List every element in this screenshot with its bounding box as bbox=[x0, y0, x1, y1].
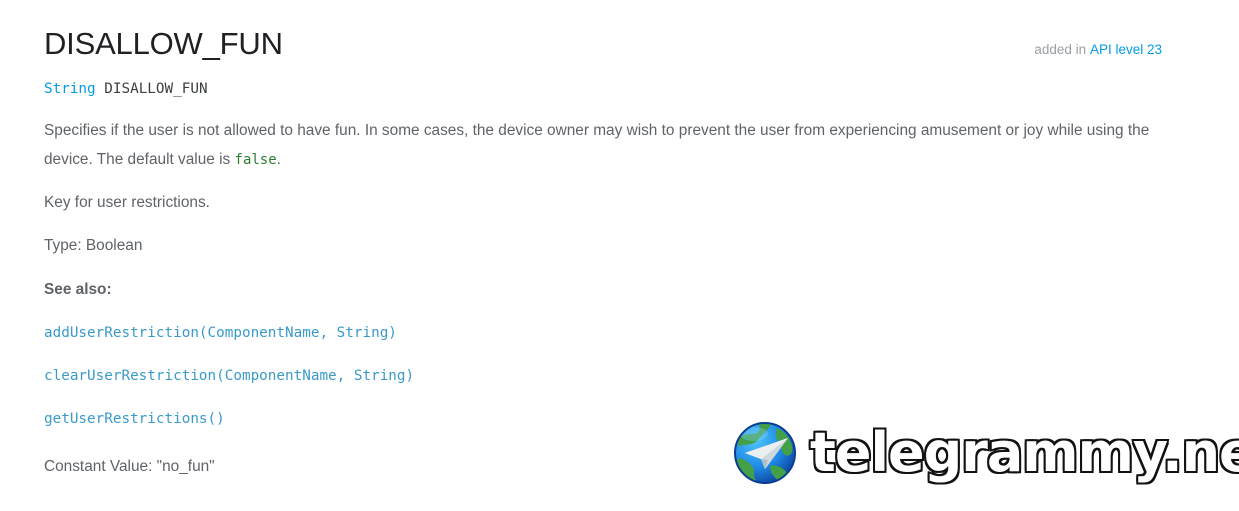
type-paragraph: Type: Boolean bbox=[44, 231, 142, 260]
description-code-false: false bbox=[235, 152, 277, 168]
see-also-row: addUserRestriction(ComponentName, String… bbox=[44, 323, 397, 343]
description-text-part2: . bbox=[277, 151, 281, 168]
api-reference-page: DISALLOW_FUN added in API level 23 Strin… bbox=[0, 0, 1239, 511]
paper-plane-shape bbox=[745, 438, 788, 469]
see-also-link-clear-user-restriction[interactable]: clearUserRestriction(ComponentName, Stri… bbox=[44, 368, 414, 384]
added-in-note: added in API level 23 bbox=[1034, 42, 1162, 58]
see-also-row: getUserRestrictions() bbox=[44, 409, 225, 429]
api-level-link[interactable]: API level 23 bbox=[1090, 42, 1162, 57]
see-also-link-add-user-restriction[interactable]: addUserRestriction(ComponentName, String… bbox=[44, 325, 397, 341]
watermark-text: telegrammy.net bbox=[810, 425, 1239, 481]
page-header: DISALLOW_FUN added in API level 23 bbox=[44, 24, 1162, 68]
description-text-part1: Specifies if the user is not allowed to … bbox=[44, 122, 1149, 168]
see-also-row: clearUserRestriction(ComponentName, Stri… bbox=[44, 366, 414, 386]
see-also-link-get-user-restrictions[interactable]: getUserRestrictions() bbox=[44, 411, 225, 427]
signature-name: DISALLOW_FUN bbox=[104, 81, 207, 97]
description-paragraph: Specifies if the user is not allowed to … bbox=[44, 116, 1179, 175]
added-in-label: added in bbox=[1034, 42, 1086, 57]
constant-value-line: Constant Value: "no_fun" bbox=[44, 452, 215, 481]
key-paragraph: Key for user restrictions. bbox=[44, 188, 210, 217]
constant-signature: String DISALLOW_FUN bbox=[44, 79, 208, 99]
page-title: DISALLOW_FUN bbox=[44, 24, 283, 64]
globe-paper-plane-icon bbox=[732, 420, 798, 486]
watermark: telegrammy.net bbox=[732, 415, 1224, 491]
see-also-heading: See also: bbox=[44, 275, 112, 304]
signature-type-link[interactable]: String bbox=[44, 81, 96, 97]
